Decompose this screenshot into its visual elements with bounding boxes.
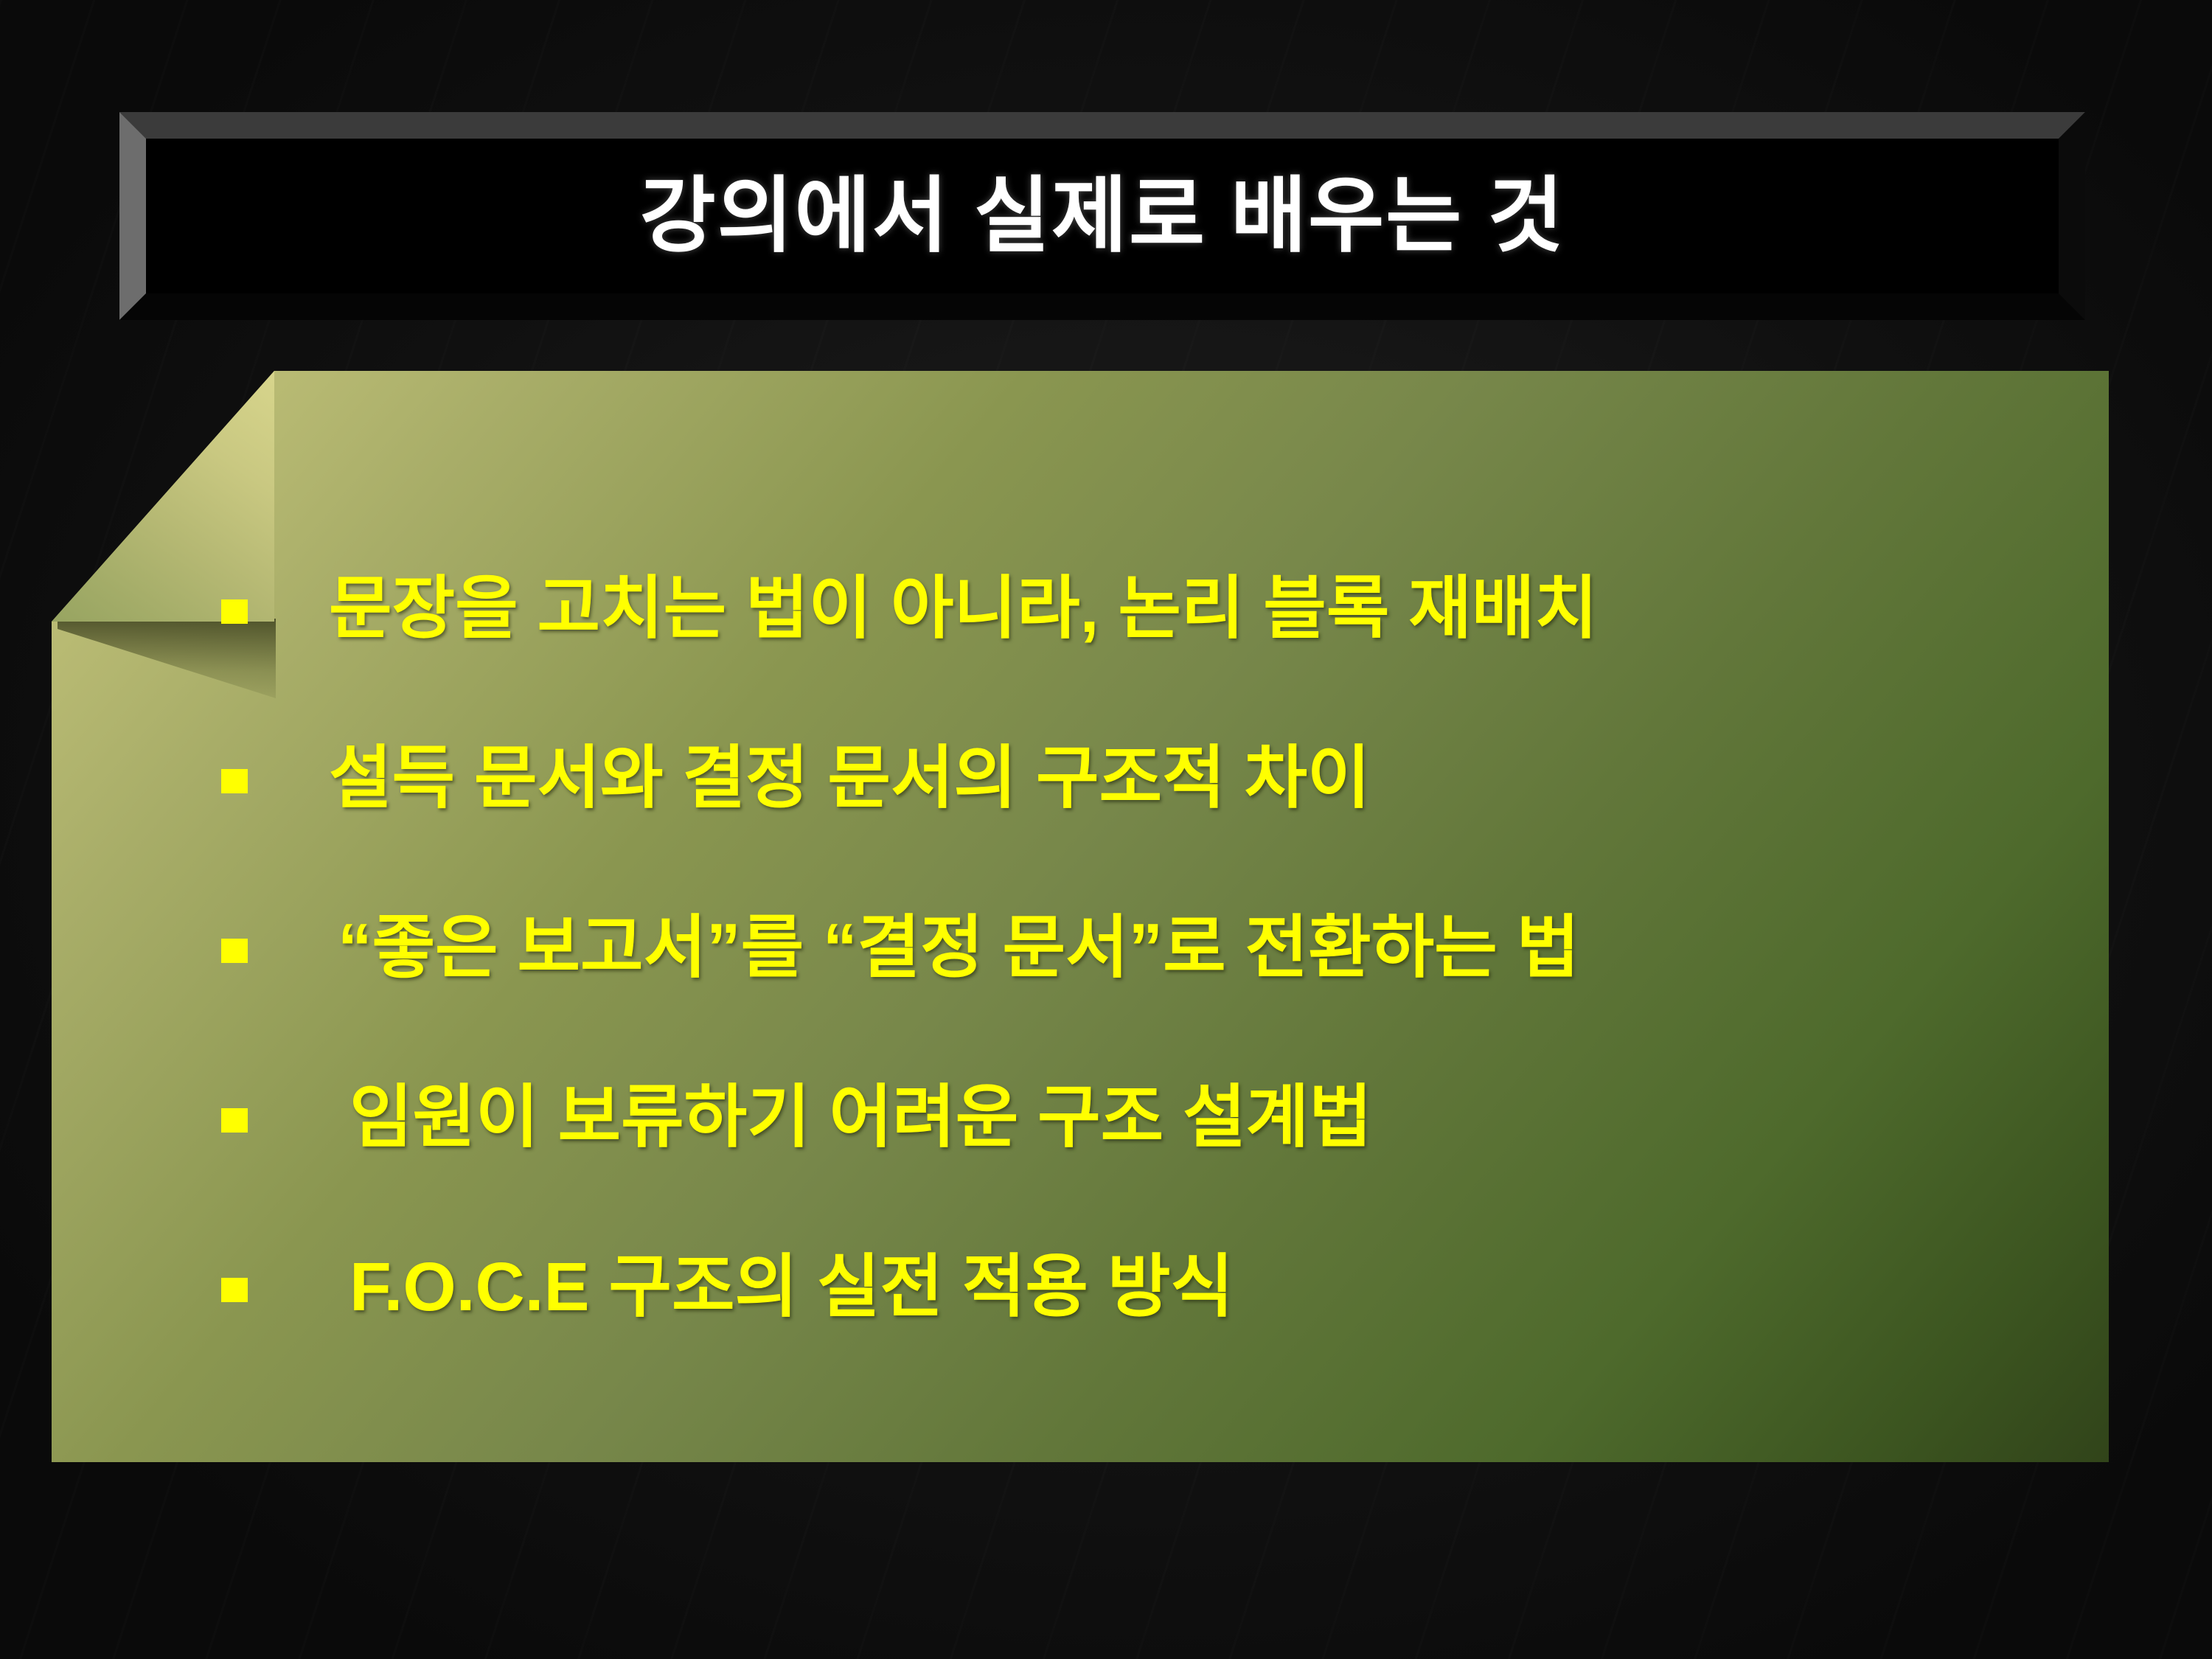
title-plaque-face: 강의에서 실제로 배우는 것 bbox=[146, 139, 2059, 293]
slide-title: 강의에서 실제로 배우는 것 bbox=[640, 175, 1565, 257]
square-bullet-icon bbox=[221, 769, 248, 793]
presentation-slide: 강의에서 실제로 배우는 것 문장을 고치는 법이 아니라, 논리 블록 재배치… bbox=[0, 0, 2212, 1659]
bullet-label-4: 임원이 보류하기 어려운 구조 설계법 bbox=[248, 1077, 1372, 1152]
list-item[interactable]: 문장을 고치는 법이 아니라, 논리 블록 재배치 bbox=[221, 568, 2079, 738]
square-bullet-icon bbox=[221, 1278, 248, 1302]
bullet-list: 문장을 고치는 법이 아니라, 논리 블록 재배치 설득 문서와 결정 문서의 … bbox=[221, 568, 2079, 1416]
list-item[interactable]: 임원이 보류하기 어려운 구조 설계법 bbox=[221, 1077, 2079, 1247]
square-bullet-icon bbox=[221, 939, 248, 963]
list-item[interactable]: 설득 문서와 결정 문서의 구조적 차이 bbox=[221, 738, 2079, 908]
square-bullet-icon bbox=[221, 1108, 248, 1133]
bullet-label-5: F.O.C.E 구조의 실전 적용 방식 bbox=[248, 1247, 1234, 1321]
title-plaque: 강의에서 실제로 배우는 것 bbox=[119, 112, 2085, 320]
list-item[interactable]: “좋은 보고서”를 “결정 문서”로 전환하는 법 bbox=[221, 908, 2079, 1077]
bullet-label-1: 문장을 고치는 법이 아니라, 논리 블록 재배치 bbox=[248, 568, 1598, 643]
bullet-label-2: 설득 문서와 결정 문서의 구조적 차이 bbox=[248, 738, 1371, 813]
content-page: 문장을 고치는 법이 아니라, 논리 블록 재배치 설득 문서와 결정 문서의 … bbox=[52, 371, 2109, 1462]
list-item[interactable]: F.O.C.E 구조의 실전 적용 방식 bbox=[221, 1247, 2079, 1416]
bullet-label-3: “좋은 보고서”를 “결정 문서”로 전환하는 법 bbox=[248, 908, 1579, 982]
square-bullet-icon bbox=[221, 599, 248, 624]
